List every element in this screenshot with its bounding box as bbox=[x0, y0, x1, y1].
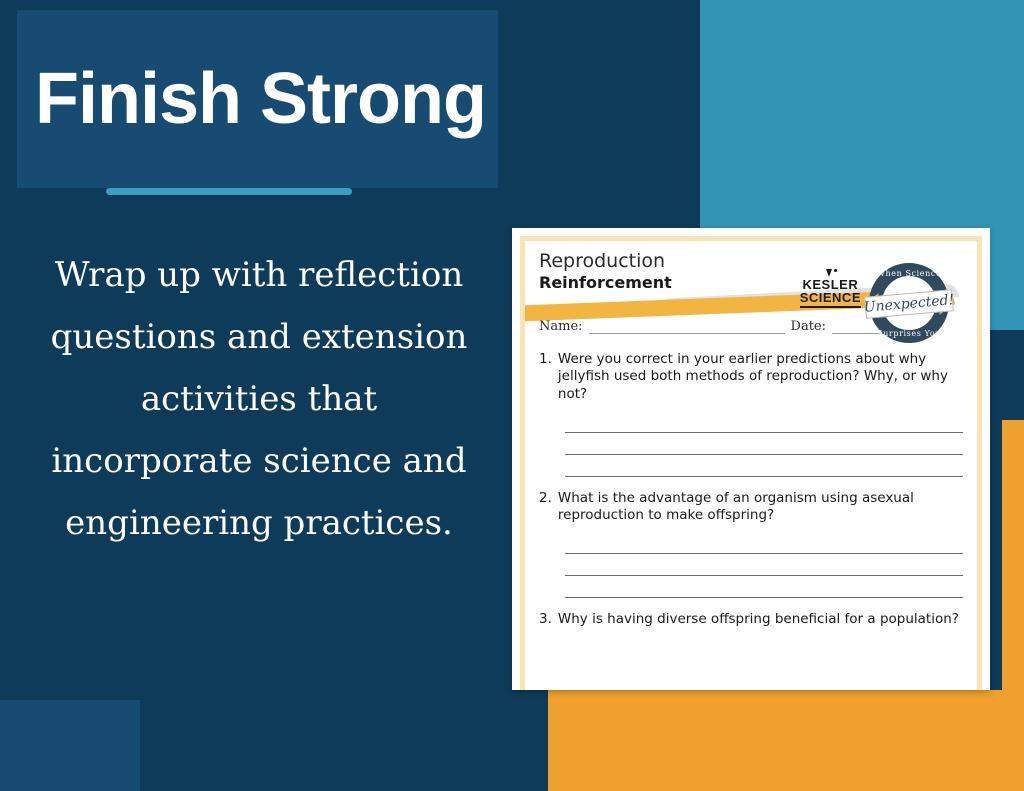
body-paragraph: Wrap up with reflection questions and ex… bbox=[36, 245, 482, 554]
name-field[interactable] bbox=[589, 321, 785, 334]
background-square-blue bbox=[0, 700, 140, 791]
kesler-science-logo: KESLER SCIENCE bbox=[800, 269, 861, 308]
title-block: Finish Strong bbox=[17, 10, 498, 188]
answer-line[interactable] bbox=[565, 576, 963, 598]
answer-line[interactable] bbox=[565, 532, 963, 554]
worksheet-page: Reproduction Reinforcement KESLER SCIENC… bbox=[525, 241, 977, 690]
date-label: Date: bbox=[791, 319, 826, 334]
worksheet-question: 2. What is the advantage of an organism … bbox=[539, 490, 963, 525]
title-accent-underline bbox=[106, 188, 352, 195]
name-label: Name: bbox=[539, 319, 583, 334]
question-text: Were you correct in your earlier predict… bbox=[558, 351, 963, 403]
answer-line[interactable] bbox=[565, 433, 963, 455]
flask-icon bbox=[823, 269, 837, 277]
worksheet-question: 1. Were you correct in your earlier pred… bbox=[539, 351, 963, 403]
question-number: 2. bbox=[539, 490, 552, 525]
worksheet-image: Reproduction Reinforcement KESLER SCIENC… bbox=[512, 228, 990, 690]
question-number: 3. bbox=[539, 611, 552, 628]
unexpected-badge: When Science Surprises You Unexpected! bbox=[863, 257, 955, 349]
worksheet-question: 3. Why is having diverse offspring benef… bbox=[539, 611, 963, 628]
badge-bottom-text: Surprises You bbox=[863, 329, 955, 338]
background-block-orange-bottom bbox=[548, 690, 1024, 791]
answer-lines bbox=[565, 532, 963, 598]
logo-line-2: SCIENCE bbox=[800, 291, 861, 304]
badge-top-text: When Science bbox=[863, 269, 955, 278]
answer-line[interactable] bbox=[565, 554, 963, 576]
logo-rule bbox=[800, 306, 861, 308]
question-text: What is the advantage of an organism usi… bbox=[558, 490, 963, 525]
answer-line[interactable] bbox=[565, 455, 963, 477]
page-title: Finish Strong bbox=[17, 63, 486, 135]
worksheet-header: Reproduction Reinforcement KESLER SCIENC… bbox=[539, 251, 963, 313]
answer-line[interactable] bbox=[565, 411, 963, 433]
question-number: 1. bbox=[539, 351, 552, 403]
question-text: Why is having diverse offspring benefici… bbox=[558, 611, 963, 628]
answer-lines bbox=[565, 411, 963, 477]
